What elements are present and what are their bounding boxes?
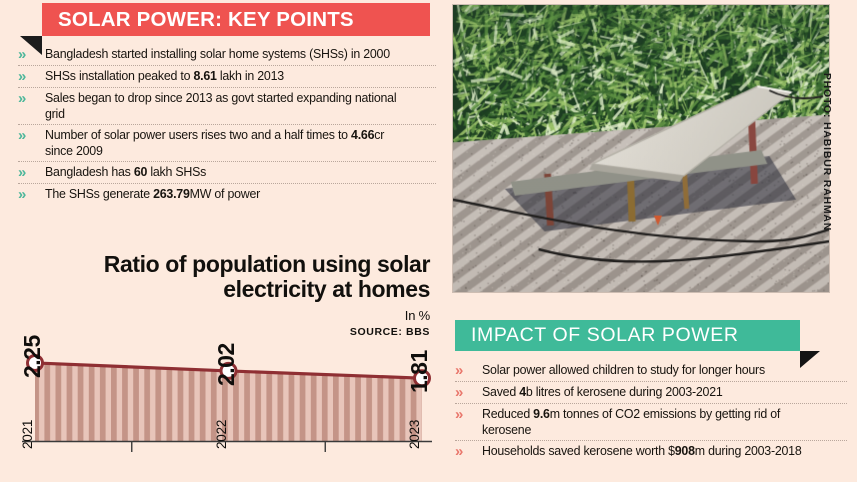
impact-banner: IMPACT OF SOLAR POWER <box>455 320 800 351</box>
double-chevron-icon: » <box>455 384 477 400</box>
double-chevron-icon: » <box>455 362 477 378</box>
list-item: »Bangladesh started installing solar hom… <box>18 44 436 66</box>
key-points-banner-title: SOLAR POWER: KEY POINTS <box>58 8 354 32</box>
impact-list: »Solar power allowed children to study f… <box>455 360 847 462</box>
list-item: »The SHSs generate 263.79MW of power <box>18 184 436 205</box>
list-item-text: Bangladesh has 60 lakh SHSs <box>45 164 413 180</box>
list-item: »Solar power allowed children to study f… <box>455 360 847 382</box>
infographic-page: SOLAR POWER: KEY POINTS »Bangladesh star… <box>0 0 857 482</box>
list-item-text: The SHSs generate 263.79MW of power <box>45 186 413 202</box>
chart-x-axis-label: 2023 <box>407 420 422 449</box>
list-item: »Bangladesh has 60 lakh SHSs <box>18 162 436 184</box>
chart-x-axis-label: 2022 <box>214 420 229 449</box>
solar-usage-chart: Ratio of population using solar electric… <box>0 246 440 482</box>
key-points-list: »Bangladesh started installing solar hom… <box>18 44 436 205</box>
list-item-text: Reduced 9.6m tonnes of CO2 emissions by … <box>482 406 825 437</box>
double-chevron-icon: » <box>18 68 40 84</box>
list-item-text: Bangladesh started installing solar home… <box>45 46 413 62</box>
chart-value-label: 2.02 <box>213 343 240 386</box>
list-item-text: Households saved kerosene worth $908m du… <box>482 443 825 459</box>
impact-banner-title: IMPACT OF SOLAR POWER <box>471 324 739 347</box>
list-item-text: Sales began to drop since 2013 as govt s… <box>45 90 413 121</box>
list-item: »Saved 4b litres of kerosene during 2003… <box>455 382 847 404</box>
double-chevron-icon: » <box>18 186 40 202</box>
list-item-text: Saved 4b litres of kerosene during 2003-… <box>482 384 825 400</box>
list-item: »Reduced 9.6m tonnes of CO2 emissions by… <box>455 404 847 441</box>
double-chevron-icon: » <box>18 164 40 180</box>
double-chevron-icon: » <box>455 443 477 459</box>
chart-value-label: 1.81 <box>406 350 433 393</box>
solar-panel-photo <box>452 4 830 293</box>
solar-panel-photo-canvas <box>453 5 829 292</box>
double-chevron-icon: » <box>18 90 40 106</box>
chart-value-label: 2.25 <box>19 335 46 378</box>
list-item: »Households saved kerosene worth $908m d… <box>455 441 847 462</box>
chart-x-axis-label: 2021 <box>20 420 35 449</box>
double-chevron-icon: » <box>18 127 40 143</box>
list-item: »Number of solar power users rises two a… <box>18 125 436 162</box>
double-chevron-icon: » <box>18 46 40 62</box>
list-item-text: SHSs installation peaked to 8.61 lakh in… <box>45 68 413 84</box>
list-item: »SHSs installation peaked to 8.61 lakh i… <box>18 66 436 88</box>
list-item: »Sales began to drop since 2013 as govt … <box>18 88 436 125</box>
double-chevron-icon: » <box>455 406 477 422</box>
key-points-banner: SOLAR POWER: KEY POINTS <box>42 3 430 36</box>
photo-credit: PHOTO: HABIBUR RAHMAN <box>821 72 833 232</box>
list-item-text: Number of solar power users rises two an… <box>45 127 413 158</box>
list-item-text: Solar power allowed children to study fo… <box>482 362 825 378</box>
